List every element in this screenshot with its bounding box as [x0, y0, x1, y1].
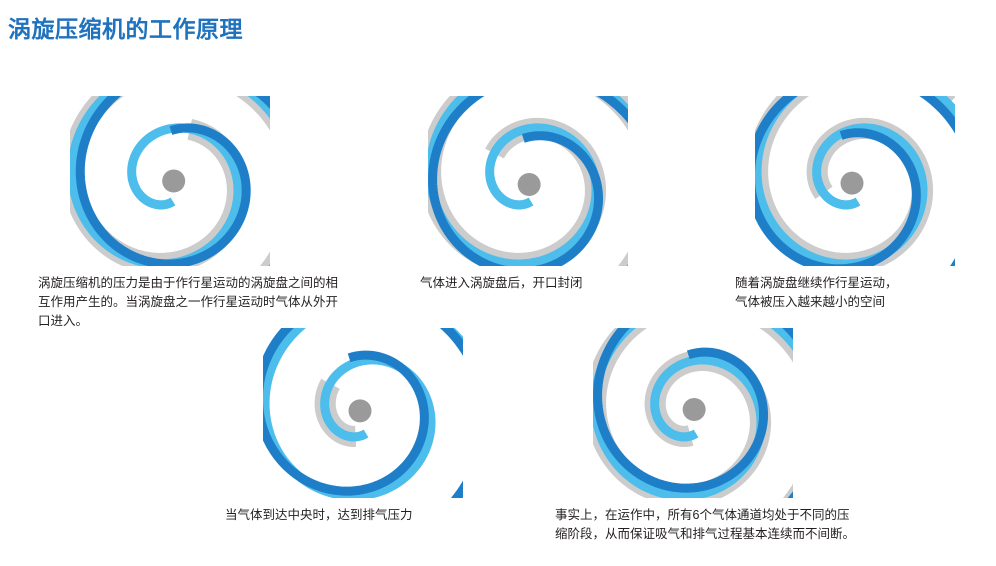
stage-2-caption: 气体进入涡旋盘后，开口封闭 [420, 274, 670, 293]
scroll-spiral-illustration-2 [428, 96, 628, 266]
stage-4-figure-wrapper [263, 328, 510, 498]
stage-2-figure-wrapper [428, 96, 670, 266]
stage-1-figure-wrapper [70, 96, 338, 266]
stage-panel-2: 气体进入涡旋盘后，开口封闭 [420, 96, 670, 293]
scroll-spiral-illustration-4 [263, 328, 463, 498]
stage-3-figure-wrapper [755, 96, 995, 266]
scroll-spiral-illustration-1 [70, 96, 270, 266]
stage-5-caption: 事实上，在运作中，所有6个气体通道均处于不同的压缩阶段，从而保证吸气和排气过程基… [555, 506, 855, 544]
scroll-spiral-illustration-3 [755, 96, 955, 266]
stage-3-caption: 随着涡旋盘继续作行星运动， 气体被压入越来越小的空间 [735, 274, 995, 312]
stage-panel-3: 随着涡旋盘继续作行星运动， 气体被压入越来越小的空间 [735, 96, 995, 312]
scroll-center-hub [162, 170, 185, 193]
stage-panel-4: 当气体到达中央时，达到排气压力 [225, 328, 510, 525]
scroll-spiral-illustration-5 [593, 328, 793, 498]
scroll-center-hub [841, 172, 864, 195]
scroll-center-hub [683, 398, 706, 421]
stage-4-caption: 当气体到达中央时，达到排气压力 [225, 506, 510, 525]
stage-5-figure-wrapper [593, 328, 855, 498]
stage-1-caption: 涡旋压缩机的压力是由于作行星运动的涡旋盘之间的相互作用产生的。当涡旋盘之一作行星… [38, 274, 338, 331]
scroll-compressor-diagram: 涡旋压缩机的压力是由于作行星运动的涡旋盘之间的相互作用产生的。当涡旋盘之一作行星… [0, 0, 996, 566]
scroll-center-hub [349, 399, 372, 422]
stage-panel-1: 涡旋压缩机的压力是由于作行星运动的涡旋盘之间的相互作用产生的。当涡旋盘之一作行星… [38, 96, 338, 331]
stage-panel-5: 事实上，在运作中，所有6个气体通道均处于不同的压缩阶段，从而保证吸气和排气过程基… [555, 328, 855, 544]
scroll-center-hub [518, 173, 541, 196]
